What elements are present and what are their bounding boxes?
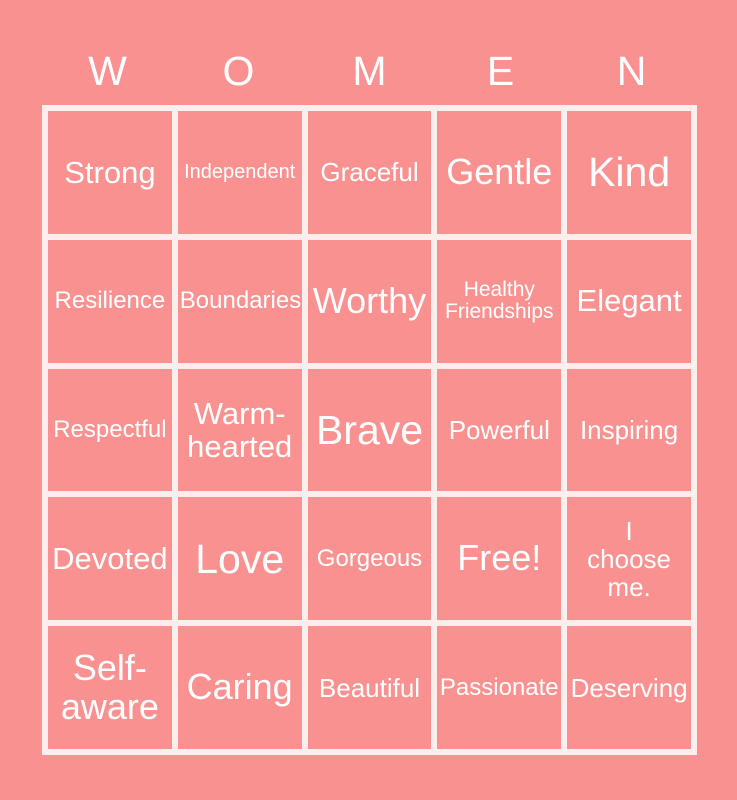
- bingo-cell-label: Powerful: [439, 416, 559, 444]
- bingo-cell-label: Strong: [50, 156, 170, 189]
- bingo-cell-r1-c3[interactable]: Healthy Friendships: [437, 240, 561, 363]
- bingo-cell-r4-c3[interactable]: Passionate: [437, 626, 561, 749]
- bingo-cell-r3-c2[interactable]: Gorgeous: [308, 497, 432, 620]
- bingo-cell-label: I choose me.: [569, 517, 689, 601]
- bingo-cell-label: Gorgeous: [310, 546, 430, 572]
- bingo-cell-r0-c0[interactable]: Strong: [48, 111, 172, 234]
- bingo-cell-label: Graceful: [310, 158, 430, 186]
- bingo-cell-r3-c1[interactable]: Love: [178, 497, 302, 620]
- bingo-cell-r1-c2[interactable]: Worthy: [308, 240, 432, 363]
- bingo-header-letter-3: E: [435, 40, 566, 102]
- bingo-cell-r1-c1[interactable]: Boundaries: [178, 240, 302, 363]
- bingo-cell-r4-c2[interactable]: Beautiful: [308, 626, 432, 749]
- bingo-cell-r4-c0[interactable]: Self- aware: [48, 626, 172, 749]
- bingo-cell-label: Respectful: [50, 417, 170, 443]
- bingo-cell-r2-c1[interactable]: Warm- hearted: [178, 369, 302, 492]
- bingo-cell-r2-c3[interactable]: Powerful: [437, 369, 561, 492]
- bingo-header: WOMEN: [42, 40, 697, 102]
- bingo-cell-r3-c0[interactable]: Devoted: [48, 497, 172, 620]
- bingo-cell-r1-c4[interactable]: Elegant: [567, 240, 691, 363]
- bingo-cell-label: Worthy: [310, 282, 430, 321]
- bingo-cell-label: Healthy Friendships: [439, 279, 559, 324]
- bingo-header-letter-4: N: [566, 40, 697, 102]
- bingo-cell-label: Free!: [439, 539, 559, 578]
- bingo-cell-r0-c4[interactable]: Kind: [567, 111, 691, 234]
- bingo-cell-label: Kind: [569, 150, 689, 194]
- bingo-cell-r0-c2[interactable]: Graceful: [308, 111, 432, 234]
- bingo-cell-label: Self- aware: [50, 649, 170, 727]
- bingo-header-letter-2: M: [304, 40, 435, 102]
- bingo-cell-label: Devoted: [50, 542, 170, 575]
- bingo-cell-label: Caring: [180, 668, 300, 707]
- bingo-cell-label: Inspiring: [569, 416, 689, 444]
- bingo-cell-r3-c4[interactable]: I choose me.: [567, 497, 691, 620]
- bingo-cell-label: Boundaries: [180, 288, 300, 314]
- bingo-cell-label: Gentle: [439, 153, 559, 192]
- bingo-cell-r4-c4[interactable]: Deserving: [567, 626, 691, 749]
- bingo-cell-r3-c3[interactable]: Free!: [437, 497, 561, 620]
- bingo-cell-label: Love: [180, 537, 300, 581]
- bingo-cell-r0-c3[interactable]: Gentle: [437, 111, 561, 234]
- bingo-cell-r2-c2[interactable]: Brave: [308, 369, 432, 492]
- bingo-cell-r2-c0[interactable]: Respectful: [48, 369, 172, 492]
- bingo-grid: StrongIndependentGracefulGentleKindResil…: [42, 105, 697, 755]
- bingo-cell-r4-c1[interactable]: Caring: [178, 626, 302, 749]
- bingo-cell-label: Passionate: [439, 675, 559, 701]
- bingo-cell-label: Independent: [180, 162, 300, 184]
- bingo-cell-r1-c0[interactable]: Resilience: [48, 240, 172, 363]
- bingo-cell-label: Beautiful: [310, 674, 430, 702]
- bingo-card: WOMEN StrongIndependentGracefulGentleKin…: [0, 0, 737, 800]
- bingo-cell-label: Deserving: [569, 674, 689, 702]
- bingo-cell-r0-c1[interactable]: Independent: [178, 111, 302, 234]
- bingo-cell-label: Warm- hearted: [180, 397, 300, 464]
- bingo-cell-label: Resilience: [50, 288, 170, 314]
- bingo-cell-label: Elegant: [569, 284, 689, 317]
- bingo-cell-label: Brave: [310, 408, 430, 452]
- bingo-header-letter-1: O: [173, 40, 304, 102]
- bingo-cell-r2-c4[interactable]: Inspiring: [567, 369, 691, 492]
- bingo-header-letter-0: W: [42, 40, 173, 102]
